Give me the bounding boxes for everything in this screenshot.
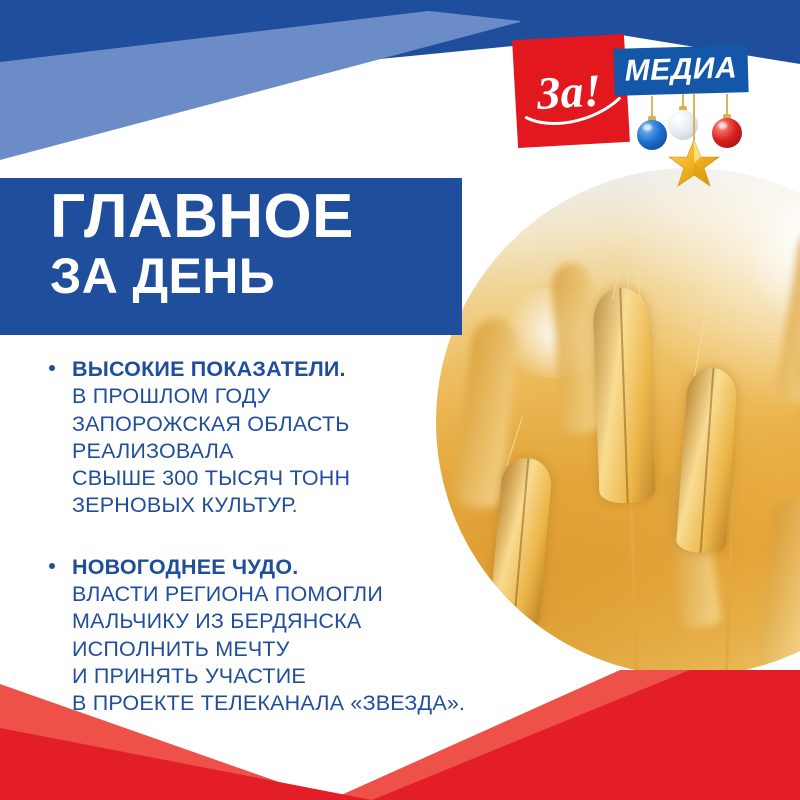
bullet-dot-icon: [49, 563, 55, 569]
za-wordmark-icon: За!: [521, 52, 625, 133]
bullet-line: ЗЕРНОВЫХ КУЛЬТУР.: [72, 492, 564, 519]
page-title: ГЛАВНОЕ ЗА ДЕНЬ: [50, 188, 470, 299]
bullet-line: ИСПОЛНИТЬ МЕЧТУ: [72, 636, 564, 663]
bullet-dot-icon: [49, 365, 55, 371]
wheat-awn: [694, 321, 705, 376]
news-bullet-list: ВЫСОКИЕ ПОКАЗАТЕЛИ. В ПРОШЛОМ ГОДУ ЗАПОР…: [44, 356, 564, 752]
bullet-line: И ПРИНЯТЬ УЧАСТИЕ: [72, 663, 564, 690]
page-title-line1: ГЛАВНОЕ: [50, 188, 470, 245]
bullet-line: СВЫШЕ 300 ТЫСЯЧ ТОНН: [72, 465, 564, 492]
brand-logo[interactable]: За! МЕДИА: [515, 33, 750, 148]
wheat-ear: [592, 287, 655, 504]
wheat-ear: [676, 366, 739, 554]
bullet-line: В ПРОШЛОМ ГОДУ: [72, 383, 564, 410]
list-item: ВЫСОКИЕ ПОКАЗАТЕЛИ. В ПРОШЛОМ ГОДУ ЗАПОР…: [44, 356, 564, 520]
bullet-lead: ВЫСОКИЕ ПОКАЗАТЕЛИ.: [72, 356, 564, 383]
logo-media-badge: МЕДИА: [613, 45, 748, 96]
bullet-line: ВЛАСТИ РЕГИОНА ПОМОГЛИ: [72, 581, 564, 608]
bullet-line: В ПРОЕКТЕ ТЕЛЕКАНАЛА «ЗВЕЗДА».: [72, 690, 564, 717]
logo-za-text: За!: [535, 64, 603, 119]
bullet-line: МАЛЬЧИКУ ИЗ БЕРДЯНСКА: [72, 608, 564, 635]
poster-canvas: ГЛАВНОЕ ЗА ДЕНЬ ВЫСОКИЕ ПОКАЗАТЕЛИ. В ПР…: [0, 0, 800, 800]
list-item: НОВОГОДНЕЕ ЧУДО. ВЛАСТИ РЕГИОНА ПОМОГЛИ …: [44, 554, 564, 718]
bullet-line: РЕАЛИЗОВАЛА: [72, 438, 564, 465]
bullet-lead: НОВОГОДНЕЕ ЧУДО.: [72, 554, 564, 581]
wheat-ear-blurred: [759, 496, 800, 669]
logo-media-text: МЕДИА: [614, 51, 749, 89]
page-title-line2: ЗА ДЕНЬ: [50, 253, 470, 299]
top-light-blue-band: [0, 0, 520, 200]
bullet-line: ЗАПОРОЖСКАЯ ОБЛАСТЬ: [72, 411, 564, 438]
